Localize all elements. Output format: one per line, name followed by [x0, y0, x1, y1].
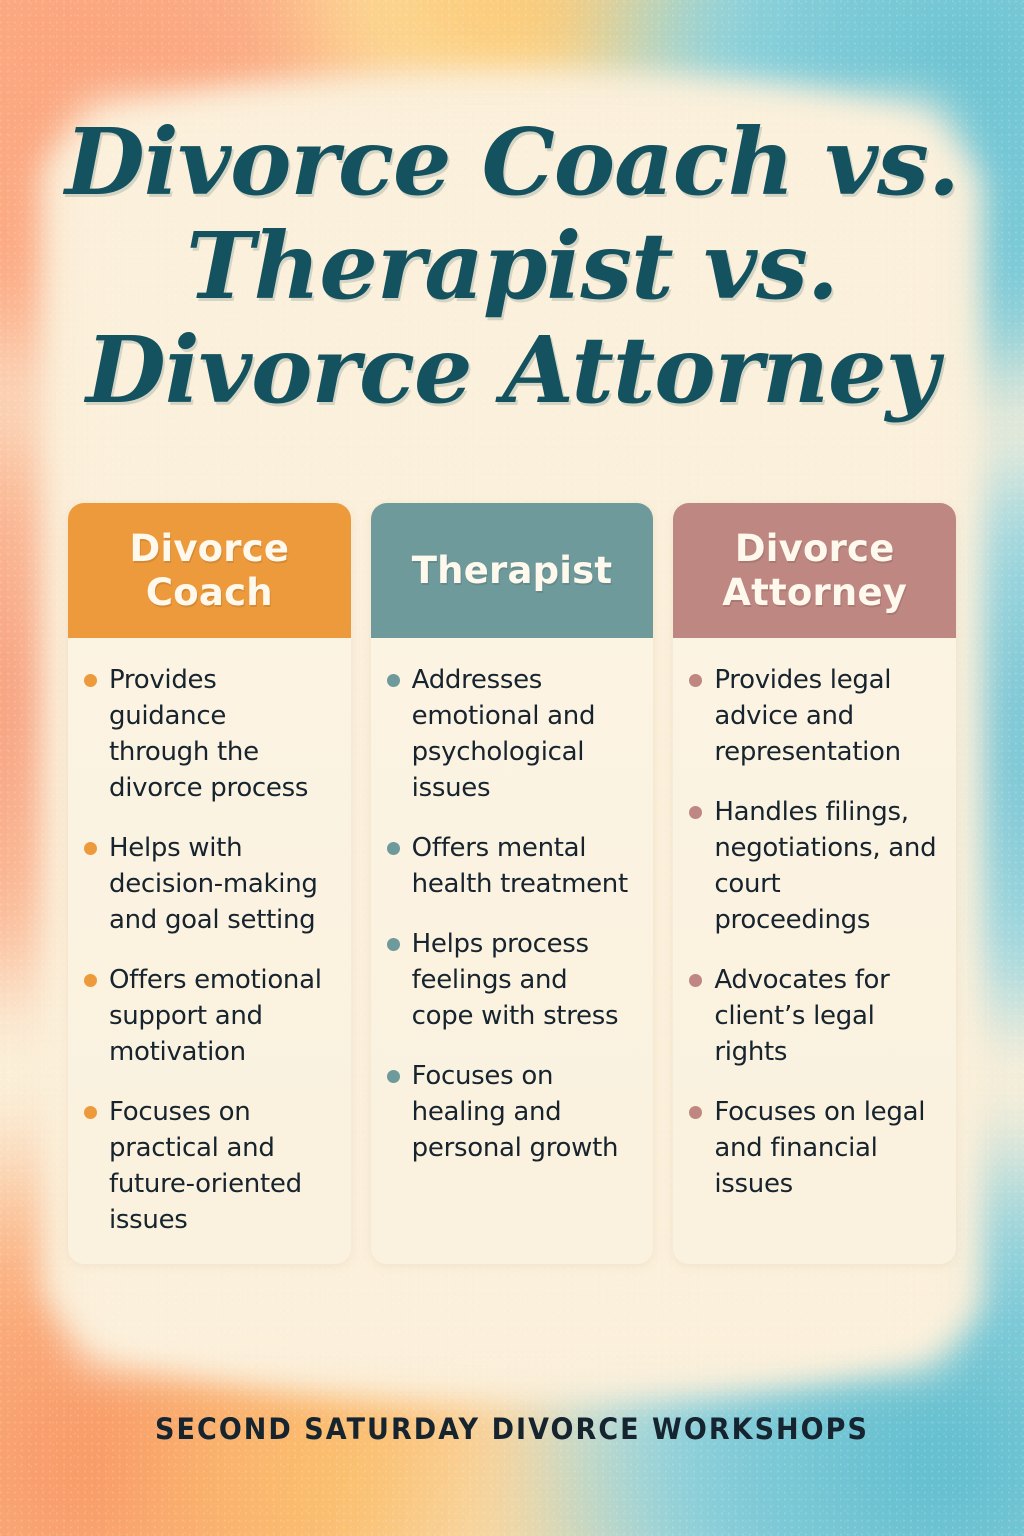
bullet-text: Helps with decision-making and goal sett…: [109, 830, 333, 938]
list-item: Advocates for client’s legal rights: [689, 962, 938, 1070]
comparison-columns: Divorce Coach Provides guidance through …: [68, 503, 956, 1264]
column-body-therapist: Addresses emotional and psychological is…: [371, 638, 654, 1264]
title-line-3: Divorce Attorney: [0, 318, 1024, 422]
list-item: Offers mental health treatment: [387, 830, 636, 902]
bullet-text: Provides legal advice and representation: [714, 662, 938, 770]
list-item: Handles filings, negotiations, and court…: [689, 794, 938, 938]
bullet-text: Focuses on legal and financial issues: [714, 1094, 938, 1202]
bullet-text: Focuses on practical and future-oriented…: [109, 1094, 333, 1238]
column-body-divorce-coach: Provides guidance through the divorce pr…: [68, 638, 351, 1264]
bullet-dot-icon: [689, 806, 702, 819]
bullet-dot-icon: [387, 1070, 400, 1083]
bullet-dot-icon: [84, 974, 97, 987]
bullet-text: Helps process feelings and cope with str…: [412, 926, 636, 1034]
bullet-dot-icon: [84, 1106, 97, 1119]
bullet-dot-icon: [84, 842, 97, 855]
bullet-dot-icon: [689, 1106, 702, 1119]
bullet-dot-icon: [387, 674, 400, 687]
bullet-list-divorce-coach: Provides guidance through the divorce pr…: [84, 662, 333, 1238]
column-header-divorce-coach: Divorce Coach: [68, 503, 351, 638]
column-body-divorce-attorney: Provides legal advice and representation…: [673, 638, 956, 1264]
list-item: Focuses on legal and financial issues: [689, 1094, 938, 1202]
title-line-1: Divorce Coach vs.: [0, 110, 1024, 214]
bullet-text: Offers emotional support and motivation: [109, 962, 333, 1070]
column-header-divorce-attorney: Divorce Attorney: [673, 503, 956, 638]
column-divorce-attorney: Divorce Attorney Provides legal advice a…: [673, 503, 956, 1264]
list-item: Addresses emotional and psychological is…: [387, 662, 636, 806]
bullet-text: Addresses emotional and psychological is…: [412, 662, 636, 806]
column-divorce-coach: Divorce Coach Provides guidance through …: [68, 503, 351, 1264]
column-therapist: Therapist Addresses emotional and psycho…: [371, 503, 654, 1264]
footer-brand: SECOND SATURDAY DIVORCE WORKSHOPS: [36, 1412, 988, 1446]
list-item: Helps process feelings and cope with str…: [387, 926, 636, 1034]
list-item: Provides guidance through the divorce pr…: [84, 662, 333, 806]
column-header-therapist: Therapist: [371, 503, 654, 638]
bullet-dot-icon: [84, 674, 97, 687]
bullet-dot-icon: [387, 938, 400, 951]
bullet-dot-icon: [689, 674, 702, 687]
bullet-dot-icon: [387, 842, 400, 855]
bullet-list-divorce-attorney: Provides legal advice and representation…: [689, 662, 938, 1202]
bullet-list-therapist: Addresses emotional and psychological is…: [387, 662, 636, 1166]
list-item: Focuses on practical and future-oriented…: [84, 1094, 333, 1238]
list-item: Helps with decision-making and goal sett…: [84, 830, 333, 938]
bullet-text: Focuses on healing and personal growth: [412, 1058, 636, 1166]
bullet-dot-icon: [689, 974, 702, 987]
bullet-text: Provides guidance through the divorce pr…: [109, 662, 333, 806]
list-item: Focuses on healing and personal growth: [387, 1058, 636, 1166]
bullet-text: Offers mental health treatment: [412, 830, 636, 902]
bullet-text: Handles filings, negotiations, and court…: [714, 794, 938, 938]
title-line-2: Therapist vs.: [0, 214, 1024, 318]
bullet-text: Advocates for client’s legal rights: [714, 962, 938, 1070]
list-item: Offers emotional support and motivation: [84, 962, 333, 1070]
list-item: Provides legal advice and representation: [689, 662, 938, 770]
poster-title: Divorce Coach vs. Therapist vs. Divorce …: [0, 110, 1024, 422]
